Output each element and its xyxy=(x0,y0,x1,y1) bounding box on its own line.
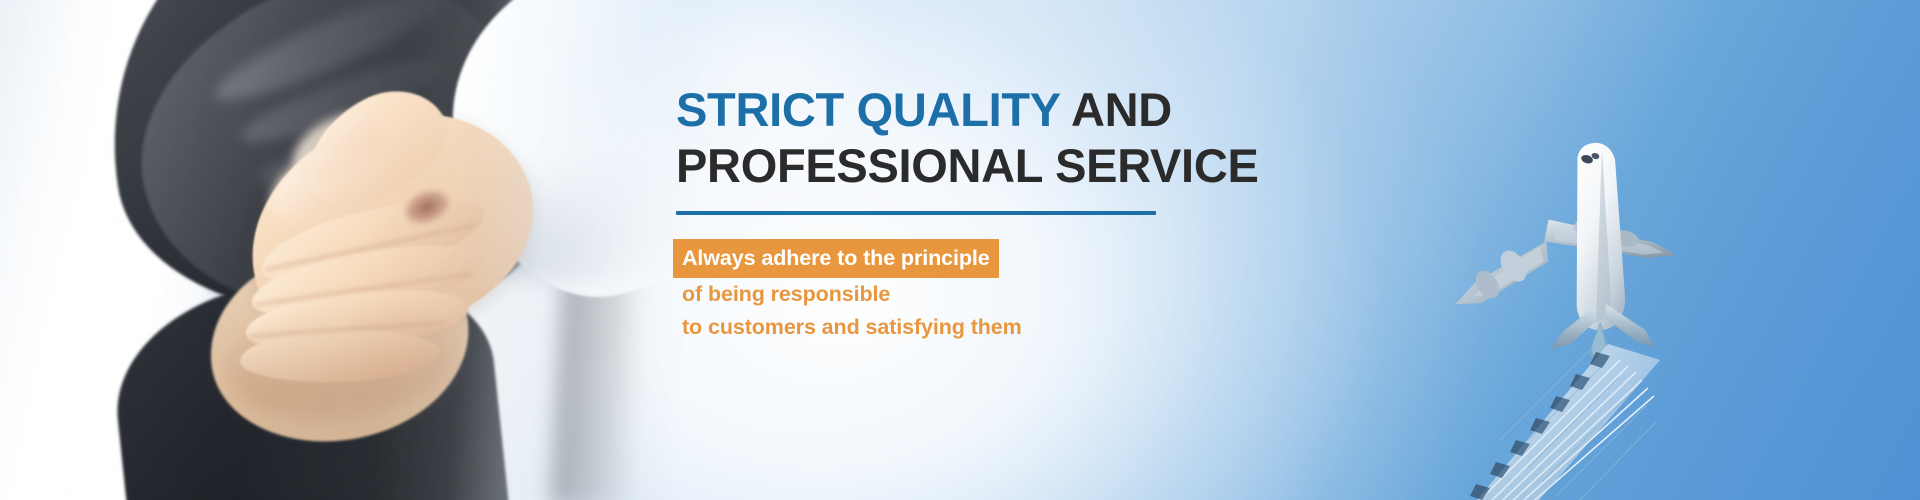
handshake-photo xyxy=(0,0,700,500)
glass-building xyxy=(1470,330,1920,500)
subtext-block: Always adhere to the principle of being … xyxy=(676,239,1436,344)
promo-banner: STRICT QUALITY AND PROFESSIONAL SERVICE … xyxy=(0,0,1920,500)
headline-line-1: STRICT QUALITY AND xyxy=(676,82,1436,138)
subtext-line-2: of being responsible xyxy=(676,278,1436,311)
headline-divider xyxy=(676,211,1156,215)
photo-depth-overlay xyxy=(0,0,700,500)
subtext-line-1: Always adhere to the principle xyxy=(673,239,999,279)
subtext-highlight-row: Always adhere to the principle xyxy=(676,239,1436,279)
headline-strict-quality: STRICT QUALITY xyxy=(676,83,1060,136)
banner-text-block: STRICT QUALITY AND PROFESSIONAL SERVICE … xyxy=(676,82,1436,344)
subtext-line-3: to customers and satisfying them xyxy=(676,311,1436,344)
headline-line-2: PROFESSIONAL SERVICE xyxy=(676,138,1436,194)
headline-and: AND xyxy=(1060,83,1172,136)
